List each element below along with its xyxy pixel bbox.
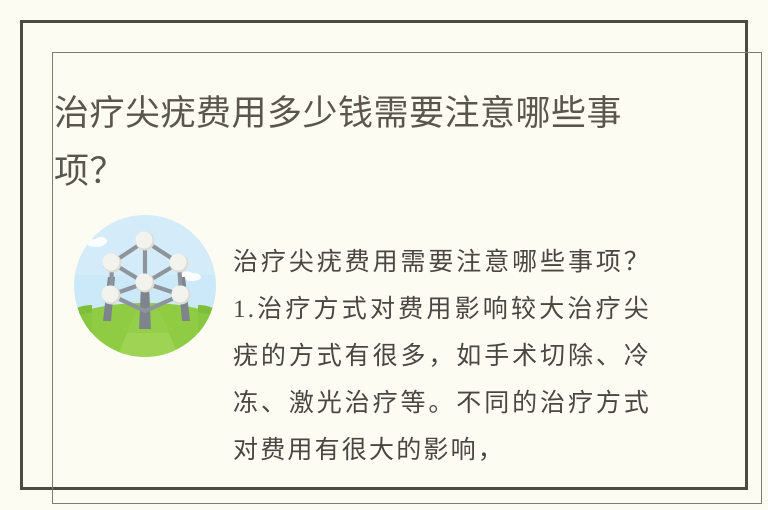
page-title: 治疗尖疣费用多少钱需要注意哪些事项？ — [54, 85, 654, 201]
article-thumbnail — [74, 215, 216, 357]
atomium-monument-icon — [74, 215, 216, 357]
article-excerpt: 治疗尖疣费用需要注意哪些事项？1.治疗方式对费用影响较大治疗尖疣的方式有很多，如… — [233, 239, 651, 474]
article-card-page: 治疗尖疣费用多少钱需要注意哪些事项？ — [0, 0, 768, 510]
